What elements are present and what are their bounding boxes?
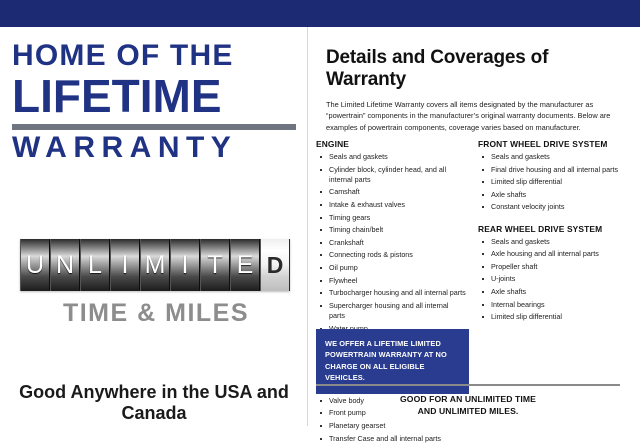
footer-line-1: GOOD FOR AN UNLIMITED TIME bbox=[316, 393, 620, 405]
page-title: Details and Coverages of Warranty bbox=[326, 47, 630, 91]
list-item: Oil pump bbox=[316, 263, 466, 273]
list-item: Propeller shaft bbox=[478, 262, 628, 272]
body-columns: HOME OF THE LIFETIME WARRANTY UNLIMITED … bbox=[0, 27, 640, 426]
list-item: Planetary gearset bbox=[316, 421, 466, 431]
list-item: Flywheel bbox=[316, 276, 466, 286]
hero-line-home-of-the: HOME OF THE bbox=[12, 41, 300, 71]
list-item: Crankshaft bbox=[316, 238, 466, 248]
coverage-list: Seals and gasketsCylinder block, cylinde… bbox=[316, 152, 466, 334]
list-item: Constant velocity joints bbox=[478, 202, 628, 212]
odometer-cell: I bbox=[170, 239, 200, 291]
hero-line-lifetime: LIFETIME bbox=[12, 73, 300, 120]
odometer-cell: D bbox=[260, 239, 290, 291]
list-item: Timing chain/belt bbox=[316, 225, 466, 235]
hero-line-warranty: WARRANTY bbox=[12, 133, 300, 163]
list-item: Axle shafts bbox=[478, 190, 628, 200]
list-item: Axle housing and all internal parts bbox=[478, 249, 628, 259]
section-heading: FRONT WHEEL DRIVE SYSTEM bbox=[478, 139, 628, 149]
coverage-list: Seals and gasketsFinal drive housing and… bbox=[478, 152, 628, 213]
intro-paragraph: The Limited Lifetime Warranty covers all… bbox=[326, 99, 630, 133]
list-item: Seals and gaskets bbox=[478, 237, 628, 247]
odometer-cell: N bbox=[50, 239, 80, 291]
odometer-graphic: UNLIMITED bbox=[20, 239, 290, 291]
time-and-miles-label: TIME & MILES bbox=[20, 299, 292, 328]
list-item: Turbocharger housing and all internal pa… bbox=[316, 288, 466, 298]
list-item: Transfer Case and all internal parts bbox=[316, 434, 466, 444]
list-item: Intake & exhaust valves bbox=[316, 200, 466, 210]
warranty-flyer: HOME OF THE LIFETIME WARRANTY UNLIMITED … bbox=[0, 0, 640, 426]
section-heading: ENGINE bbox=[316, 139, 466, 149]
list-item: Limited slip differential bbox=[478, 177, 628, 187]
coverage-list: Seals and gasketsAxle housing and all in… bbox=[478, 237, 628, 323]
list-item: U-joints bbox=[478, 274, 628, 284]
odometer-cell: E bbox=[230, 239, 260, 291]
good-anywhere-label: Good Anywhere in the USA and Canada bbox=[0, 382, 308, 424]
list-item: Internal bearings bbox=[478, 300, 628, 310]
odometer-cell: T bbox=[200, 239, 230, 291]
footer-divider-rule bbox=[316, 384, 620, 386]
left-hero-panel: HOME OF THE LIFETIME WARRANTY UNLIMITED … bbox=[0, 27, 308, 426]
list-item: Camshaft bbox=[316, 187, 466, 197]
odometer-cell: I bbox=[110, 239, 140, 291]
list-item: Seals and gaskets bbox=[478, 152, 628, 162]
list-item: Axle shafts bbox=[478, 287, 628, 297]
list-item: Limited slip differential bbox=[478, 312, 628, 322]
hero-divider-rule bbox=[12, 124, 296, 130]
top-navy-band bbox=[0, 0, 640, 27]
odometer-cell: U bbox=[20, 239, 50, 291]
list-item: Final drive housing and all internal par… bbox=[478, 165, 628, 175]
list-item: Connecting rods & pistons bbox=[316, 250, 466, 260]
odometer-cell: L bbox=[80, 239, 110, 291]
footer-text: GOOD FOR AN UNLIMITED TIME AND UNLIMITED… bbox=[316, 393, 620, 418]
section-heading: REAR WHEEL DRIVE SYSTEM bbox=[478, 224, 628, 234]
list-item: Supercharger housing and all internal pa… bbox=[316, 301, 466, 321]
footer-line-2: AND UNLIMITED MILES. bbox=[316, 405, 620, 417]
hero-headline-group: HOME OF THE LIFETIME WARRANTY bbox=[12, 41, 300, 163]
right-details-panel: Details and Coverages of Warranty The Li… bbox=[308, 27, 640, 426]
list-item: Timing gears bbox=[316, 213, 466, 223]
odometer-cell: M bbox=[140, 239, 170, 291]
list-item: Seals and gaskets bbox=[316, 152, 466, 162]
list-item: Cylinder block, cylinder head, and all i… bbox=[316, 165, 466, 185]
